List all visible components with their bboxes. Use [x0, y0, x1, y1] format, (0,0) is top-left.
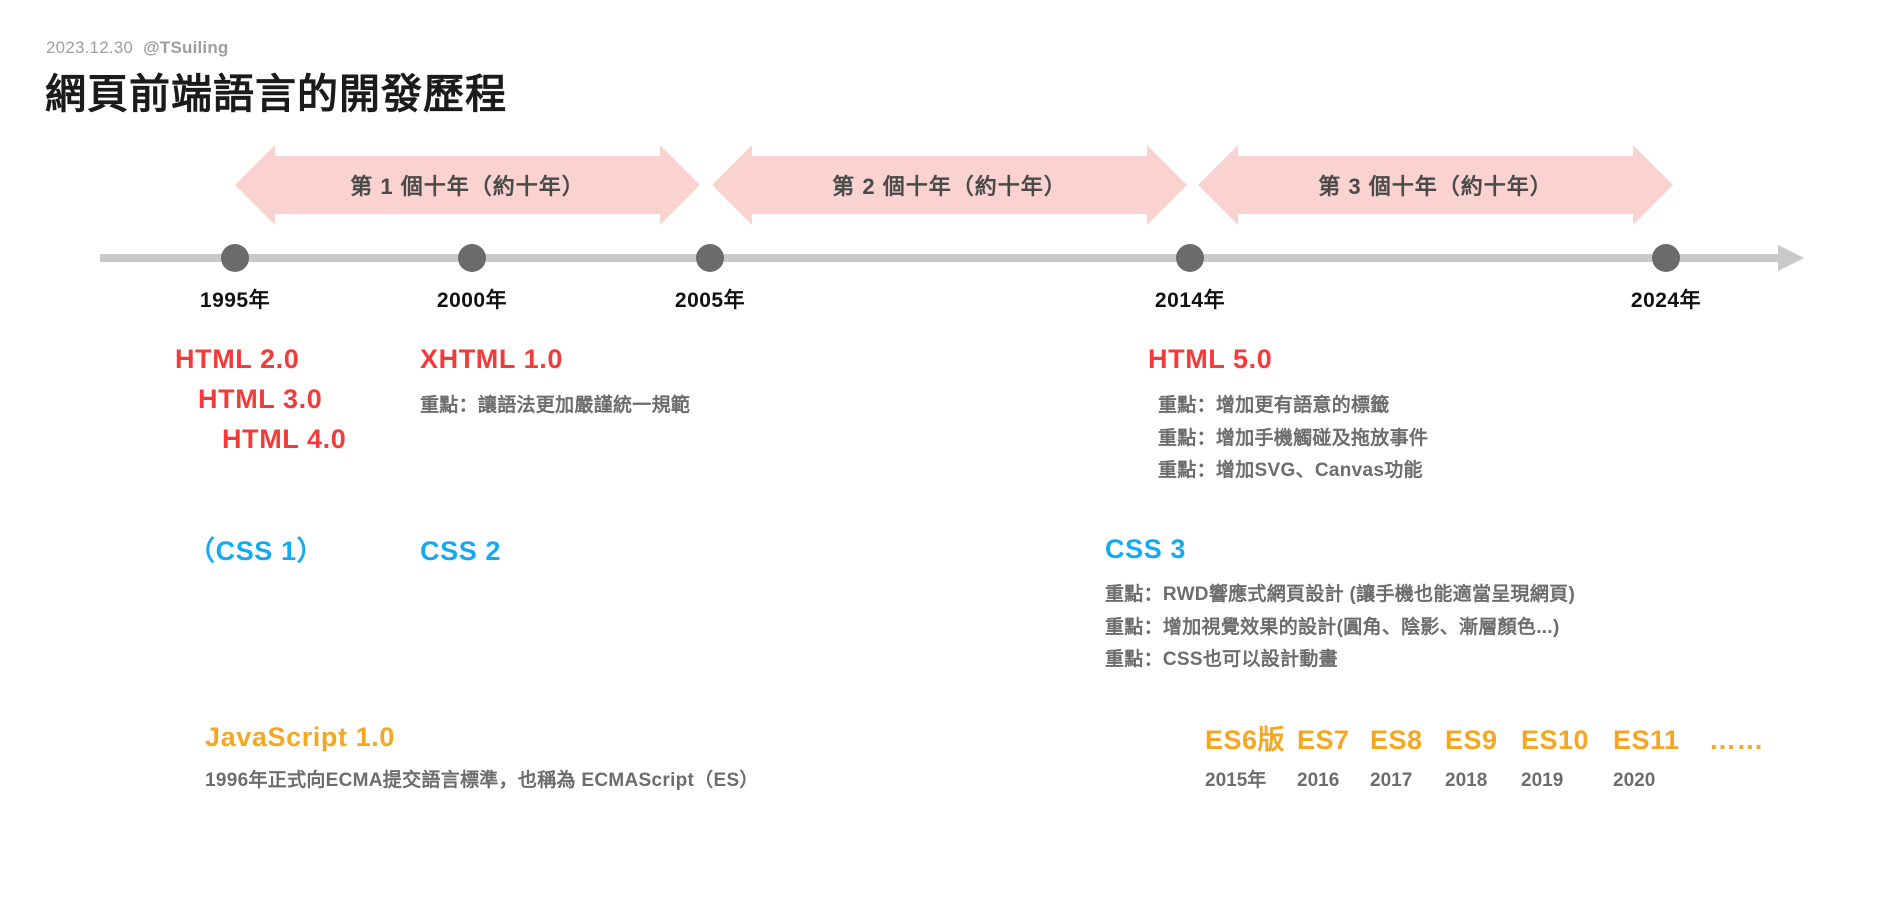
timeline-axis: 1995年 2000年 2005年 2014年 2024年 — [0, 240, 1900, 330]
javascript1-block: JavaScript 1.0 1996年正式向ECMA提交語言標準，也稱為 EC… — [205, 718, 759, 798]
decade-arrow-1-label: 第 1 個十年（約十年） — [350, 169, 584, 201]
timeline-infographic: 2023.12.30@TSuiling 網頁前端語言的開發歷程 第 1 個十年（… — [0, 0, 1900, 900]
es-year-2015: 2015年 — [1205, 765, 1297, 792]
page-title: 網頁前端語言的開發歷程 — [45, 60, 507, 120]
milestone-dot-1995 — [221, 244, 249, 272]
milestone-dot-2000 — [458, 244, 486, 272]
html5-note-2: 重點：增加手機觸碰及拖放事件 — [1158, 423, 1428, 456]
html5-note-3: 重點：增加SVG、Canvas功能 — [1158, 455, 1428, 488]
css1-block: （CSS 1） — [188, 532, 324, 571]
es-version-es8: ES8 — [1370, 725, 1445, 756]
es-versions-block: ES6版 ES7 ES8 ES9 ES10 ES11 …… 2015年 2016… — [1205, 718, 1764, 792]
css3-block: CSS 3 重點：RWD響應式網頁設計 (讓手機也能適當呈現網頁) 重點：增加視… — [1105, 530, 1575, 677]
html5-block: HTML 5.0 重點：增加更有語意的標籤 重點：增加手機觸碰及拖放事件 重點：… — [1148, 340, 1428, 488]
decade-arrow-2-label: 第 2 個十年（約十年） — [832, 169, 1066, 201]
html-version-3: HTML 3.0 — [198, 380, 346, 420]
es-year-2018: 2018 — [1445, 770, 1521, 792]
milestone-dot-2024 — [1652, 244, 1680, 272]
css3-note-2: 重點：增加視覺效果的設計(圓角、陰影、漸層顏色...) — [1105, 612, 1575, 645]
milestone-dot-2005 — [696, 244, 724, 272]
html5-note-1: 重點：增加更有語意的標籤 — [1158, 390, 1428, 423]
css1-heading: （CSS 1） — [188, 532, 324, 571]
milestone-label-2005: 2005年 — [675, 284, 745, 314]
es-year-2019: 2019 — [1521, 770, 1613, 792]
es-year-2020: 2020 — [1613, 770, 1709, 792]
milestone-dot-2014 — [1176, 244, 1204, 272]
javascript1-heading: JavaScript 1.0 — [205, 718, 759, 757]
milestone-label-2024: 2024年 — [1631, 284, 1701, 314]
html-version-2: HTML 2.0 — [175, 340, 346, 380]
es-year-2017: 2017 — [1370, 770, 1445, 792]
es-version-es11: ES11 — [1613, 725, 1709, 756]
publish-date: 2023.12.30 — [46, 38, 133, 57]
es-version-es9: ES9 — [1445, 725, 1521, 756]
javascript1-note-1: 1996年正式向ECMA提交語言標準，也稱為 ECMAScript（ES） — [205, 765, 759, 798]
author-handle: @TSuiling — [143, 38, 228, 57]
milestone-label-1995: 1995年 — [200, 284, 270, 314]
decade-arrow-band: 第 1 個十年（約十年） 第 2 個十年（約十年） 第 3 個十年（約十年） — [0, 150, 1900, 230]
es-version-more: …… — [1709, 725, 1764, 756]
es-version-es7: ES7 — [1297, 725, 1370, 756]
xhtml-note-1: 重點：讓語法更加嚴謹統一規範 — [420, 390, 690, 423]
es-version-es10: ES10 — [1521, 725, 1613, 756]
milestone-label-2000: 2000年 — [437, 284, 507, 314]
css2-block: CSS 2 — [420, 532, 501, 571]
xhtml-heading: XHTML 1.0 — [420, 340, 690, 379]
decade-arrow-3-label: 第 3 個十年（約十年） — [1318, 169, 1552, 201]
axis-arrowhead-icon — [1778, 245, 1804, 271]
xhtml-block: XHTML 1.0 重點：讓語法更加嚴謹統一規範 — [420, 340, 690, 423]
css3-note-1: 重點：RWD響應式網頁設計 (讓手機也能適當呈現網頁) — [1105, 579, 1575, 612]
decade-arrow-3: 第 3 個十年（約十年） — [1238, 156, 1633, 214]
css3-heading: CSS 3 — [1105, 530, 1575, 569]
html5-heading: HTML 5.0 — [1148, 340, 1428, 379]
es-version-es6: ES6版 — [1205, 718, 1297, 757]
css3-note-3: 重點：CSS也可以設計動畫 — [1105, 644, 1575, 677]
es-year-2016: 2016 — [1297, 770, 1370, 792]
decade-arrow-1: 第 1 個十年（約十年） — [275, 156, 660, 214]
html-version-4: HTML 4.0 — [222, 420, 346, 460]
meta-line: 2023.12.30@TSuiling — [46, 38, 229, 58]
milestone-label-2014: 2014年 — [1155, 284, 1225, 314]
es-year-row: 2015年 2016 2017 2018 2019 2020 — [1205, 765, 1764, 792]
decade-arrow-2: 第 2 個十年（約十年） — [752, 156, 1147, 214]
css2-heading: CSS 2 — [420, 532, 501, 571]
html-early-versions: HTML 2.0 HTML 3.0 HTML 4.0 — [175, 340, 346, 460]
axis-line — [100, 254, 1780, 262]
es-version-row: ES6版 ES7 ES8 ES9 ES10 ES11 …… — [1205, 718, 1764, 757]
